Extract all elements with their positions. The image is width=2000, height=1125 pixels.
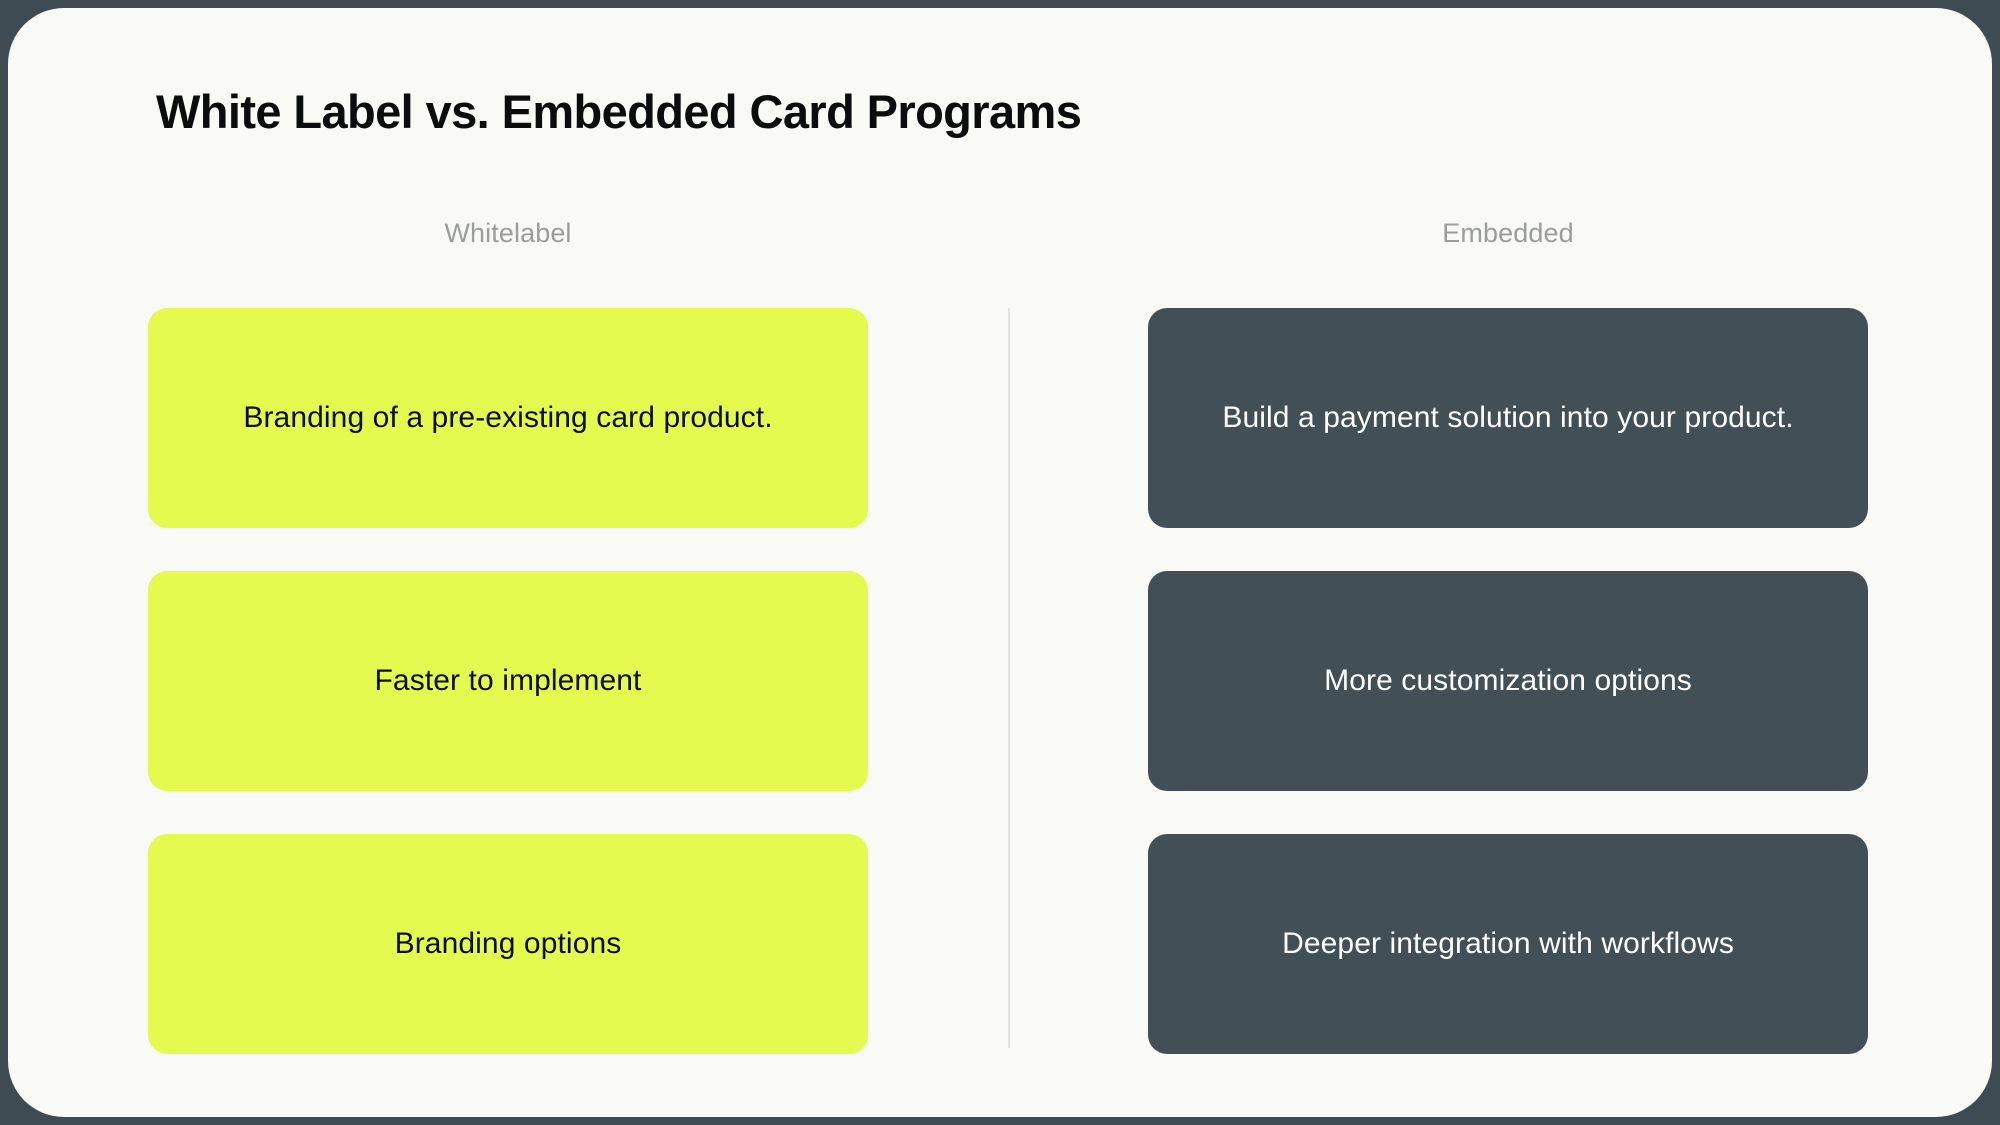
column-divider [1008, 308, 1010, 1048]
slide-canvas: White Label vs. Embedded Card Programs W… [8, 8, 1992, 1117]
card-list-whitelabel: Branding of a pre-existing card product.… [148, 308, 868, 1097]
card-list-embedded: Build a payment solution into your produ… [1148, 308, 1868, 1097]
card-item[interactable]: Faster to implement [148, 571, 868, 791]
card-text: Build a payment solution into your produ… [1222, 388, 1793, 448]
card-item[interactable]: Build a payment solution into your produ… [1148, 308, 1868, 528]
card-item[interactable]: More customization options [1148, 571, 1868, 791]
card-item[interactable]: Branding options [148, 834, 868, 1054]
card-item[interactable]: Branding of a pre-existing card product. [148, 308, 868, 528]
card-text: Branding of a pre-existing card product. [243, 388, 772, 448]
column-whitelabel: Whitelabel Branding of a pre-existing ca… [148, 213, 868, 273]
card-text: Faster to implement [375, 651, 642, 711]
page-title: White Label vs. Embedded Card Programs [156, 84, 1081, 139]
card-text: Branding options [395, 914, 622, 974]
column-header-embedded: Embedded [1148, 213, 1868, 273]
card-text: More customization options [1324, 651, 1692, 711]
column-embedded: Embedded Build a payment solution into y… [1148, 213, 1868, 273]
column-header-whitelabel: Whitelabel [148, 213, 868, 273]
card-text: Deeper integration with workflows [1282, 914, 1734, 974]
card-item[interactable]: Deeper integration with workflows [1148, 834, 1868, 1054]
